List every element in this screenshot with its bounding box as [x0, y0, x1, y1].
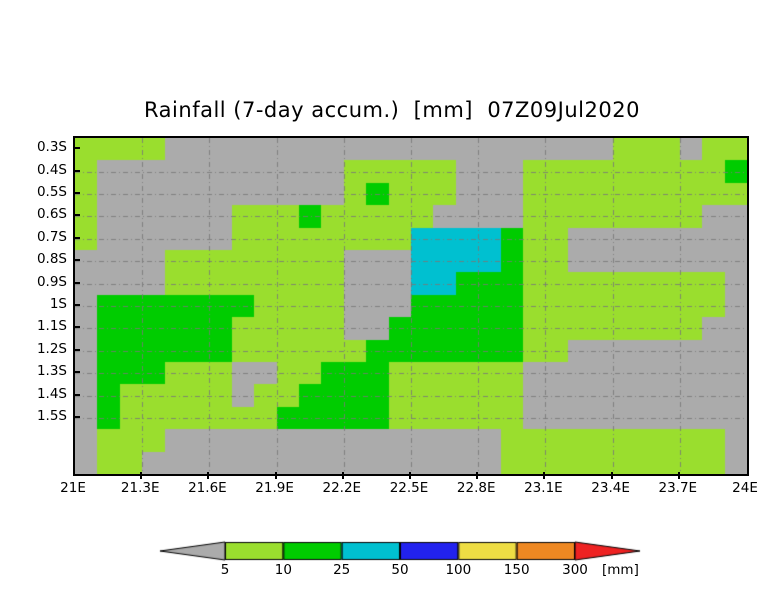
y-tick-label: 1.4S [11, 386, 67, 402]
y-tick-label: 0.9S [11, 274, 67, 290]
colorbar-tick-label: 100 [428, 562, 488, 578]
colorbar-strip [150, 540, 650, 562]
y-tick-label: 1.2S [11, 341, 67, 357]
y-tick-mark [73, 304, 80, 306]
colorbar-tick-label: 300 [545, 562, 605, 578]
x-tick-label: 21E [38, 480, 108, 496]
y-tick-label: 1.3S [11, 363, 67, 379]
x-tick-mark [275, 472, 277, 479]
x-tick-mark [543, 472, 545, 479]
y-tick-mark [73, 237, 80, 239]
colorbar-tick-label: 150 [487, 562, 547, 578]
y-tick-label: 1.5S [11, 408, 67, 424]
y-tick-mark [73, 147, 80, 149]
x-tick-label: 22.2E [307, 480, 377, 496]
y-tick-label: 0.3S [11, 139, 67, 155]
colorbar-unit-label: [mm] [602, 562, 639, 578]
y-tick-label: 0.6S [11, 206, 67, 222]
y-tick-label: 0.5S [11, 184, 67, 200]
y-tick-mark [73, 192, 80, 194]
x-tick-label: 22.8E [441, 480, 511, 496]
x-tick-mark [678, 472, 680, 479]
y-tick-mark [73, 282, 80, 284]
x-tick-label: 21.3E [105, 480, 175, 496]
plot-area [73, 136, 749, 476]
y-tick-mark [73, 416, 80, 418]
x-tick-mark [140, 472, 142, 479]
colorbar-tick-label: 10 [253, 562, 313, 578]
colorbar-tick-label: 25 [312, 562, 372, 578]
x-tick-label: 23.1E [508, 480, 578, 496]
rainfall-map-figure: Rainfall (7-day accum.) [mm] 07Z09Jul202… [0, 0, 784, 612]
y-tick-mark [73, 259, 80, 261]
x-tick-label: 22.5E [374, 480, 444, 496]
y-tick-label: 1S [11, 296, 67, 312]
y-tick-mark [73, 349, 80, 351]
colorbar-tick-label: 50 [370, 562, 430, 578]
x-tick-label: 21.9E [240, 480, 310, 496]
y-tick-label: 0.4S [11, 162, 67, 178]
y-tick-label: 0.8S [11, 251, 67, 267]
chart-title: Rainfall (7-day accum.) [mm] 07Z09Jul202… [0, 98, 784, 122]
y-tick-mark [73, 170, 80, 172]
x-tick-mark [409, 472, 411, 479]
x-tick-mark [342, 472, 344, 479]
colorbar-tick-label: 5 [195, 562, 255, 578]
y-tick-mark [73, 214, 80, 216]
y-tick-label: 0.7S [11, 229, 67, 245]
x-tick-mark [476, 472, 478, 479]
y-tick-label: 1.1S [11, 318, 67, 334]
y-tick-mark [73, 371, 80, 373]
x-axis: 21E21.3E21.6E21.9E22.2E22.5E22.8E23.1E23… [0, 474, 784, 504]
x-tick-mark [207, 472, 209, 479]
x-tick-label: 21.6E [172, 480, 242, 496]
y-axis: 0.3S0.4S0.5S0.6S0.7S0.8S0.9S1S1.1S1.2S1.… [4, 136, 67, 472]
y-tick-mark [73, 326, 80, 328]
x-tick-label: 24E [710, 480, 780, 496]
x-tick-label: 23.4E [576, 480, 646, 496]
x-tick-label: 23.7E [643, 480, 713, 496]
y-tick-mark [73, 394, 80, 396]
x-tick-mark [611, 472, 613, 479]
colorbar-legend: [mm] 5102550100150300 [150, 540, 650, 584]
heatmap-canvas [75, 138, 747, 474]
